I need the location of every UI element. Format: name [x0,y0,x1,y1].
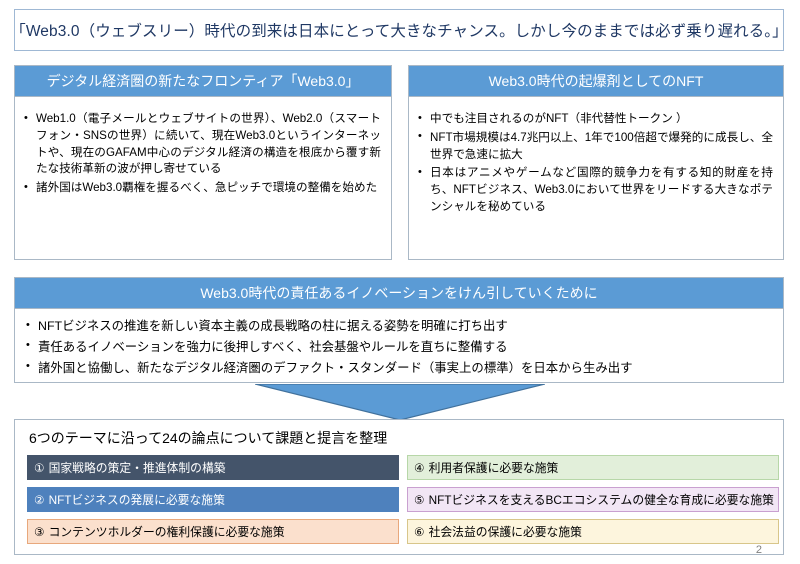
page-number: 2 [756,544,762,556]
panel-right-title: Web3.0時代の起爆剤としてのNFT [409,66,783,97]
panel-responsible-innovation: Web3.0時代の責任あるイノベーションをけん引していくために NFTビジネスの… [14,277,784,383]
panel-right-bullet-list: 中でも注目されるのがNFT（非代替性トークン ） NFT市場規模は4.7兆円以上… [417,111,773,216]
theme-label: NFTビジネスを支えるBCエコシステムの健全な育成に必要な施策 [429,491,774,508]
panel-left-title: デジタル経済圏の新たなフロンティア「Web3.0」 [15,66,391,97]
theme-label: 国家戦略の策定・推進体制の構築 [49,459,226,476]
list-item: 諸外国と協働し、新たなデジタル経済圏のデファクト・スタンダード（事実上の標準）を… [25,360,773,378]
theme-label: 利用者保護に必要な施策 [429,459,559,476]
panel-left-body: Web1.0（電子メールとウェブサイトの世界）、Web2.0（スマートフォン・S… [15,97,391,207]
list-item: NFTビジネスの推進を新しい資本主義の成長戦略の柱に据える姿勢を明確に打ち出す [25,318,773,336]
list-item: 諸外国はWeb3.0覇権を握るべく、急ピッチで環境の整備を始めた [23,180,381,197]
list-item: 中でも注目されるのがNFT（非代替性トークン ） [417,111,773,128]
panel-nft-catalyst: Web3.0時代の起爆剤としてのNFT 中でも注目されるのがNFT（非代替性トー… [408,65,784,260]
list-item: 日本はアニメやゲームなど国際的競争力を有する知的財産を持ち、NFTビジネス、We… [417,165,773,215]
theme-grid: ① 国家戦略の策定・推進体制の構築 ④ 利用者保護に必要な施策 ② NFTビジネ… [27,455,771,544]
theme-label: NFTビジネスの発展に必要な施策 [49,491,225,508]
theme-item-1[interactable]: ① 国家戦略の策定・推進体制の構築 [27,455,399,480]
list-item: NFT市場規模は4.7兆円以上、1年で100倍超で爆発的に成長し、全世界で急速に… [417,130,773,164]
theme-item-2[interactable]: ② NFTビジネスの発展に必要な施策 [27,487,399,512]
panel-mid-bullet-list: NFTビジネスの推進を新しい資本主義の成長戦略の柱に据える姿勢を明確に打ち出す … [25,318,773,378]
quote-box: 「Web3.0（ウェブスリー）時代の到来は日本にとって大きなチャンス。しかし今の… [14,9,784,51]
theme-number: ② [34,493,45,507]
theme-number: ④ [414,461,425,475]
panel-right-body: 中でも注目されるのがNFT（非代替性トークン ） NFT市場規模は4.7兆円以上… [409,97,783,226]
list-item: Web1.0（電子メールとウェブサイトの世界）、Web2.0（スマートフォン・S… [23,111,381,178]
panel-six-themes: 6つのテーマに沿って24の論点について課題と提言を整理 ① 国家戦略の策定・推進… [14,419,784,555]
theme-item-4[interactable]: ④ 利用者保護に必要な施策 [407,455,779,480]
theme-label: 社会法益の保護に必要な施策 [429,523,582,540]
theme-label: コンテンツホルダーの権利保護に必要な施策 [49,523,285,540]
slide-canvas: 「Web3.0（ウェブスリー）時代の到来は日本にとって大きなチャンス。しかし今の… [0,0,800,564]
down-arrow-icon [255,384,545,420]
panel-bottom-title: 6つのテーマに沿って24の論点について課題と提言を整理 [29,428,771,448]
theme-number: ③ [34,525,45,539]
theme-number: ① [34,461,45,475]
theme-item-5[interactable]: ⑤ NFTビジネスを支えるBCエコシステムの健全な育成に必要な施策 [407,487,779,512]
theme-item-6[interactable]: ⑥ 社会法益の保護に必要な施策 [407,519,779,544]
panel-digital-economy-frontier: デジタル経済圏の新たなフロンティア「Web3.0」 Web1.0（電子メールとウ… [14,65,392,260]
list-item: 責任あるイノベーションを強力に後押しすべく、社会基盤やルールを直ちに整備する [25,339,773,357]
quote-text: 「Web3.0（ウェブスリー）時代の到来は日本にとって大きなチャンス。しかし今の… [10,19,788,41]
panel-left-bullet-list: Web1.0（電子メールとウェブサイトの世界）、Web2.0（スマートフォン・S… [23,111,381,197]
panel-mid-body: NFTビジネスの推進を新しい資本主義の成長戦略の柱に据える姿勢を明確に打ち出す … [15,309,783,387]
theme-item-3[interactable]: ③ コンテンツホルダーの権利保護に必要な施策 [27,519,399,544]
theme-number: ⑥ [414,525,425,539]
theme-number: ⑤ [414,493,425,507]
panel-mid-title: Web3.0時代の責任あるイノベーションをけん引していくために [15,278,783,309]
